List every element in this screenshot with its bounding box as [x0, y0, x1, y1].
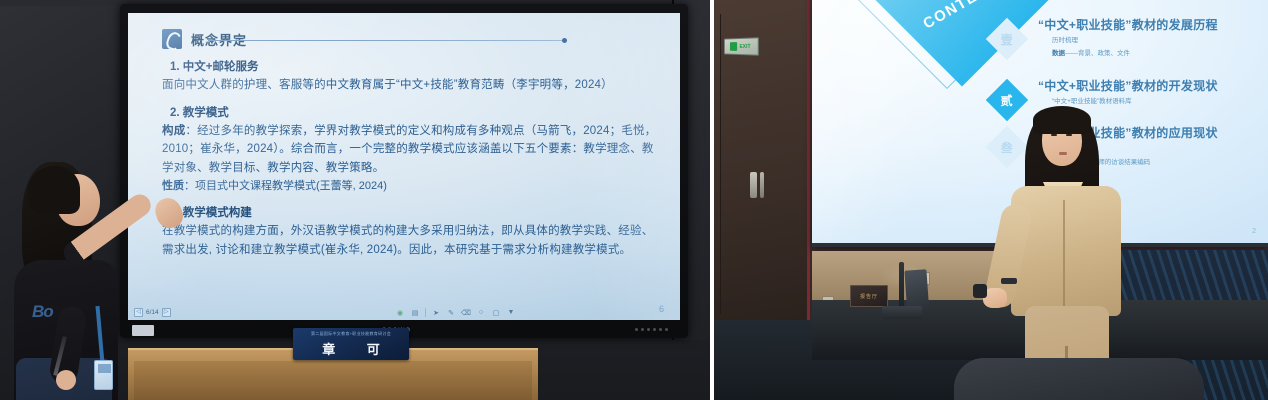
agenda-item-1: 壹 “中文+职业技能”教材的发展历程 历时梳理 数据——背景、政策、文件 [992, 16, 1258, 60]
left-photo-panel: 概念界定 1. 中文+邮轮服务 面向中文人群的护理、客服等的中文教育属于“中文+… [0, 0, 710, 400]
door-handle-secondary[interactable] [760, 172, 764, 198]
presenter-left: Bo [8, 70, 138, 400]
agenda-item-2: 贰 “中文+职业技能”教材的开发现状 “中文+职业技能”教材语料库 [992, 77, 1258, 107]
shape-icon[interactable]: ▢ [491, 308, 501, 318]
agenda-index-badge-1: 壹 [986, 18, 1028, 60]
slide-header-rule [208, 40, 562, 41]
next-page-button[interactable]: ▷ [162, 308, 171, 317]
presenter-right-mouth [1059, 152, 1067, 155]
running-man-icon [730, 42, 737, 51]
agenda-sub-1a: 历时梳理 [1052, 36, 1258, 46]
presenter-right-shirt [1011, 186, 1121, 316]
projection-page-number: 2 [1252, 228, 1256, 235]
presenter-hair-front [28, 166, 80, 214]
presenter-lower-hand [56, 370, 76, 390]
desk-nameplate-text: 报告厅 [860, 293, 878, 300]
section-body-2-text: ：经过多年的教学探索，学界对教学模式的定义和构成有多种观点（马箭飞，2024；毛… [162, 125, 656, 174]
door-seam [720, 14, 721, 314]
foreground-sofa [954, 358, 1204, 400]
status-leds [635, 328, 668, 331]
presenter-right [1009, 108, 1129, 400]
agenda-sub-1b-label: 数据 [1052, 50, 1065, 57]
exit-sign: EXIT [724, 37, 759, 56]
layers-icon[interactable]: ▤ [410, 308, 420, 318]
whiteboard-screen[interactable]: 概念界定 1. 中文+邮轮服务 面向中文人群的护理、客服等的中文教育属于“中文+… [128, 13, 680, 320]
interactive-whiteboard[interactable]: 概念界定 1. 中文+邮轮服务 面向中文人群的护理、客服等的中文教育属于“中文+… [120, 4, 688, 338]
microphone-stem [899, 262, 904, 308]
toolbar-tools[interactable]: ◉ ▤ ➤ ✎ ⌫ ○ ▢ ▼ [395, 308, 516, 318]
microphone-base [882, 306, 922, 319]
right-photo-panel: EXIT CONTENT 壹 “中文+职业技能”教材的发展历程 历时梳理 数据—… [714, 0, 1268, 400]
agenda-index-1: 壹 [1001, 30, 1013, 47]
section-body-3: 在教学模式的构建方面，外汉语教学模式的构建大多采用归纳法，即从具体的教学实践、经… [162, 222, 662, 259]
section-sub-2-text: ：项目式中文课程教学模式(王蕾等, 2024) [184, 180, 387, 192]
presenter-right-eye-left [1051, 134, 1057, 136]
wristwatch [1001, 278, 1017, 284]
eraser-icon[interactable]: ⌫ [461, 308, 471, 318]
slide-header: 概念界定 [162, 29, 662, 49]
agenda-sub-1b-text: ——背景、政策、文件 [1065, 50, 1130, 57]
section-title-2: 2. 教学模式 [170, 104, 662, 120]
pen-icon[interactable]: ✎ [446, 308, 456, 318]
lasso-icon[interactable]: ○ [476, 308, 486, 318]
agenda-index-2: 贰 [1001, 91, 1013, 108]
nameplate-organization: 第二届国际中文教育+职业技能教育研讨会 [311, 331, 391, 337]
door-handle[interactable] [750, 172, 757, 198]
more-icon[interactable]: ▼ [506, 308, 516, 318]
agenda-title-2: “中文+职业技能”教材的开发现状 [1038, 77, 1258, 94]
record-icon[interactable]: ◉ [395, 308, 405, 318]
page-indicator: 6/14 [146, 309, 159, 316]
section-sub-2: 性质：项目式中文课程教学模式(王蕾等, 2024) [162, 178, 662, 196]
presentation-clicker [973, 284, 987, 298]
bookmark-icon [162, 29, 182, 49]
agenda-sub-2a: “中文+职业技能”教材语料库 [1052, 97, 1258, 107]
screenshot-composite: 概念界定 1. 中文+邮轮服务 面向中文人群的护理、客服等的中文教育属于“中文+… [0, 0, 1268, 400]
shirt-logo-text: Bo [32, 302, 53, 322]
cursor-icon[interactable]: ➤ [431, 308, 441, 318]
presenter-right-hair-top [1033, 106, 1091, 134]
section-body-2-label: 构成 [162, 125, 185, 137]
toolbar-divider [425, 308, 426, 317]
conference-badge [94, 360, 113, 390]
nameplate: 第二届国际中文教育+职业技能教育研讨会 章 可 [293, 328, 409, 360]
slide-header-title: 概念界定 [191, 30, 247, 49]
presenter-right-eye-right [1066, 134, 1072, 136]
section-title-3: 3. 教学模式构建 [170, 204, 662, 220]
page-navigation[interactable]: ◁ 6/14 ▷ [134, 308, 171, 317]
agenda-sub-1b: 数据——背景、政策、文件 [1052, 49, 1258, 59]
nameplate-name: 章 可 [308, 339, 394, 358]
presenter-right-placket [1063, 200, 1065, 312]
section-body-2: 构成：经过多年的教学探索，学界对教学模式的定义和构成有多种观点（马箭飞，2024… [162, 122, 662, 178]
desk-nameplate: 报告厅 [850, 285, 888, 307]
left-slide-content: 概念界定 1. 中文+邮轮服务 面向中文人群的护理、客服等的中文教育属于“中文+… [128, 13, 680, 320]
agenda-title-1: “中文+职业技能”教材的发展历程 [1038, 16, 1258, 33]
section-title-1: 1. 中文+邮轮服务 [170, 58, 662, 74]
section-sub-2-label: 性质 [162, 180, 184, 192]
exit-sign-label: EXIT [739, 43, 750, 49]
section-body-1: 面向中文人群的护理、客服等的中文教育属于“中文+技能”教育范畴（李宇明等，202… [162, 76, 662, 95]
whiteboard-toolbar[interactable]: ◁ 6/14 ▷ ◉ ▤ ➤ ✎ ⌫ ○ ▢ ▼ [128, 305, 680, 320]
